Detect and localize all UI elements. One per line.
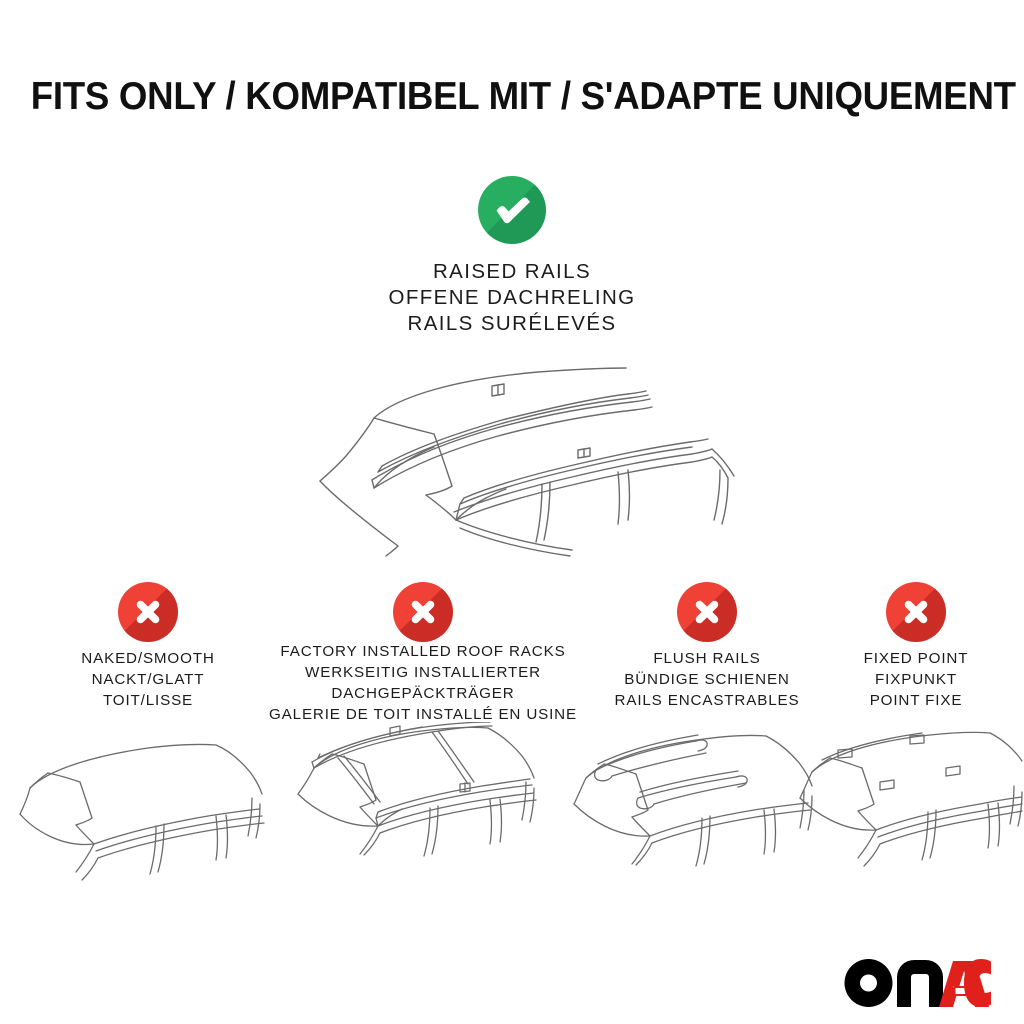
incompatible-4-line-2: FIXPUNKT [836,669,996,690]
compatible-label-block: RAISED RAILS OFFENE DACHRELING RAILS SUR… [0,259,1024,337]
incompatible-1-line-3: TOIT/LISSE [28,690,268,711]
incompatible-3-line-1: FLUSH RAILS [587,648,827,669]
logo-letter-o [845,959,893,1007]
x-mark-glyph [677,582,737,642]
omac-logo [843,957,993,1009]
incompatible-4-line-1: FIXED POINT [836,648,996,669]
incompatible-label-block-1: NAKED/SMOOTH NACKT/GLATT TOIT/LISSE [28,648,268,711]
car-roof-naked-smooth-illustration [12,738,268,908]
red-x-circle-icon [677,582,737,642]
logo-letter-c [964,959,991,1007]
green-check-circle-icon [478,176,546,244]
incompatible-1-line-2: NACKT/GLATT [28,669,268,690]
incompatible-2-line-3: DACHGEPÄCKTRÄGER [253,683,593,704]
x-mark-glyph [393,582,453,642]
compatible-label-line-1: RAISED RAILS [0,259,1024,285]
incompatible-3-line-2: BÜNDIGE SCHIENEN [587,669,827,690]
x-mark-glyph [118,582,178,642]
red-x-circle-icon [393,582,453,642]
incompatible-label-block-2: FACTORY INSTALLED ROOF RACKS WERKSEITIG … [253,641,593,725]
red-x-circle-icon [118,582,178,642]
incompatible-2-line-2: WERKSEITIG INSTALLIERTER [253,662,593,683]
logo-letter-m [897,960,943,1007]
red-x-circle-icon [886,582,946,642]
omac-logo-glyph [843,957,993,1009]
incompatible-label-block-4: FIXED POINT FIXPUNKT POINT FIXE [836,648,996,711]
compatible-label-line-2: OFFENE DACHRELING [0,285,1024,311]
car-roof-fixed-point-illustration [792,728,1024,906]
car-roof-factory-roof-racks-illustration [272,722,550,908]
incompatible-4-line-3: POINT FIXE [836,690,996,711]
compatible-label-line-3: RAILS SURÉLEVÉS [0,311,1024,337]
x-mark-glyph [886,582,946,642]
incompatible-2-line-1: FACTORY INSTALLED ROOF RACKS [253,641,593,662]
incompatible-1-line-1: NAKED/SMOOTH [28,648,268,669]
check-mark-glyph [478,176,546,244]
incompatible-3-line-3: RAILS ENCASTRABLES [587,690,827,711]
logo-letter-a-left [939,961,967,1007]
infographic-page: FITS ONLY / KOMPATIBEL MIT / S'ADAPTE UN… [0,0,1024,1024]
incompatible-label-block-3: FLUSH RAILS BÜNDIGE SCHIENEN RAILS ENCAS… [587,648,827,711]
car-roof-with-raised-rails-illustration [288,352,744,572]
page-title: FITS ONLY / KOMPATIBEL MIT / S'ADAPTE UN… [31,76,994,118]
